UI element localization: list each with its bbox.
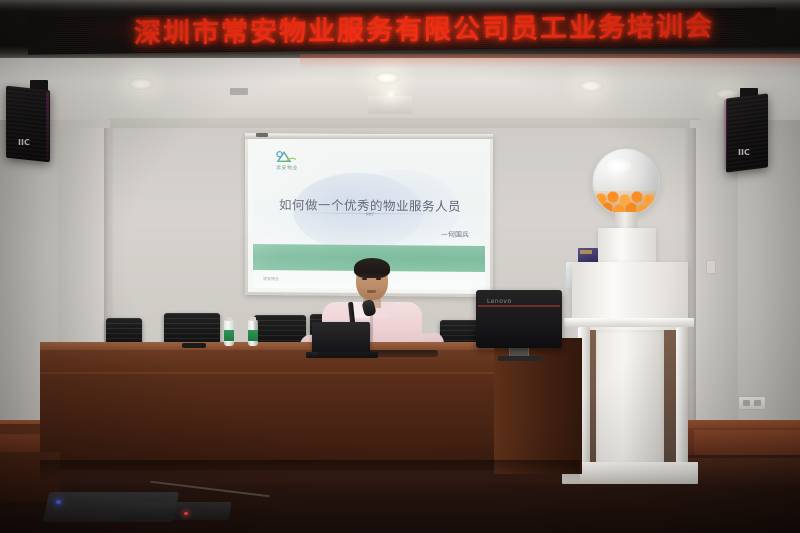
right-wall-return <box>690 128 738 448</box>
podium-column-right <box>676 327 688 467</box>
slide-company-logo: 常安物业 <box>275 150 309 172</box>
ceiling-vent <box>230 88 248 95</box>
desk-cables <box>318 350 438 357</box>
speaker-grille-left <box>6 86 50 163</box>
water-bottle-label <box>248 330 258 341</box>
presenter-hair <box>354 258 390 278</box>
outlet-socket-2 <box>754 400 761 406</box>
equipment-status-led <box>184 512 188 515</box>
led-display-panel: 深圳市常安物业服务有限公司员工业务培训会 <box>28 7 776 54</box>
presenter-eye-right <box>376 278 381 280</box>
screen-top-rail <box>245 134 493 139</box>
desk-shadow <box>40 460 580 482</box>
water-bottle-cap <box>226 317 232 321</box>
sphere-highlight <box>607 159 631 173</box>
outlet-socket-1 <box>743 400 750 406</box>
monitor-brand-label: Lenovo <box>487 298 512 305</box>
floor-equipment-secondary <box>118 502 231 520</box>
logo-mark-icon <box>275 150 297 163</box>
lottery-drum-sphere <box>592 148 660 216</box>
podium-item-accent <box>580 250 592 254</box>
podium-desktop <box>572 262 688 320</box>
screen-clip <box>256 133 268 137</box>
podium-base <box>562 462 698 484</box>
presenter-mouth <box>367 290 376 293</box>
equipment-power-led <box>56 500 61 504</box>
ceiling-projector <box>368 96 412 114</box>
speaker-grille-right <box>726 93 768 172</box>
ceiling-downlight-2 <box>374 72 400 84</box>
monitor-stand-base <box>498 356 542 361</box>
speaker-edge-left <box>46 92 49 160</box>
wall-speaker-left <box>6 86 50 163</box>
projector-lens-icon <box>385 90 397 98</box>
slide-logo-text: 常安物业 <box>276 164 298 171</box>
ceiling-downlight-3 <box>578 80 604 92</box>
water-bottle-cap <box>250 317 256 321</box>
ceiling-downlight-1 <box>128 78 154 90</box>
water-bottle-label <box>224 330 234 341</box>
podium-front-panel <box>596 330 664 464</box>
wall-plate <box>706 260 716 274</box>
presenter-eye-left <box>362 278 367 280</box>
drum-pedestal-top <box>598 228 656 262</box>
led-banner-text: 深圳市常安物业服务有限公司员工业务培训会 <box>104 10 744 52</box>
led-banner-housing: 深圳市常安物业服务有限公司员工业务培训会 <box>0 0 800 58</box>
speaker-edge-right <box>724 100 727 170</box>
remote-control <box>182 343 206 348</box>
podium-lip <box>564 318 694 327</box>
conference-desk-front <box>40 350 510 470</box>
speaker-logo-left: IIC <box>18 138 30 147</box>
slide-footer: 常安物业 <box>263 276 279 282</box>
wall-speaker-right <box>726 93 768 172</box>
speaker-logo-right: IIC <box>738 148 750 157</box>
desk-trim-line <box>40 372 510 374</box>
monitor-accent-stripe <box>478 305 560 307</box>
slide-author: —何国兵 <box>441 230 469 240</box>
conference-room-photo: 深圳市常安物业服务有限公司员工业务培训会 IIC IIC <box>0 0 800 533</box>
